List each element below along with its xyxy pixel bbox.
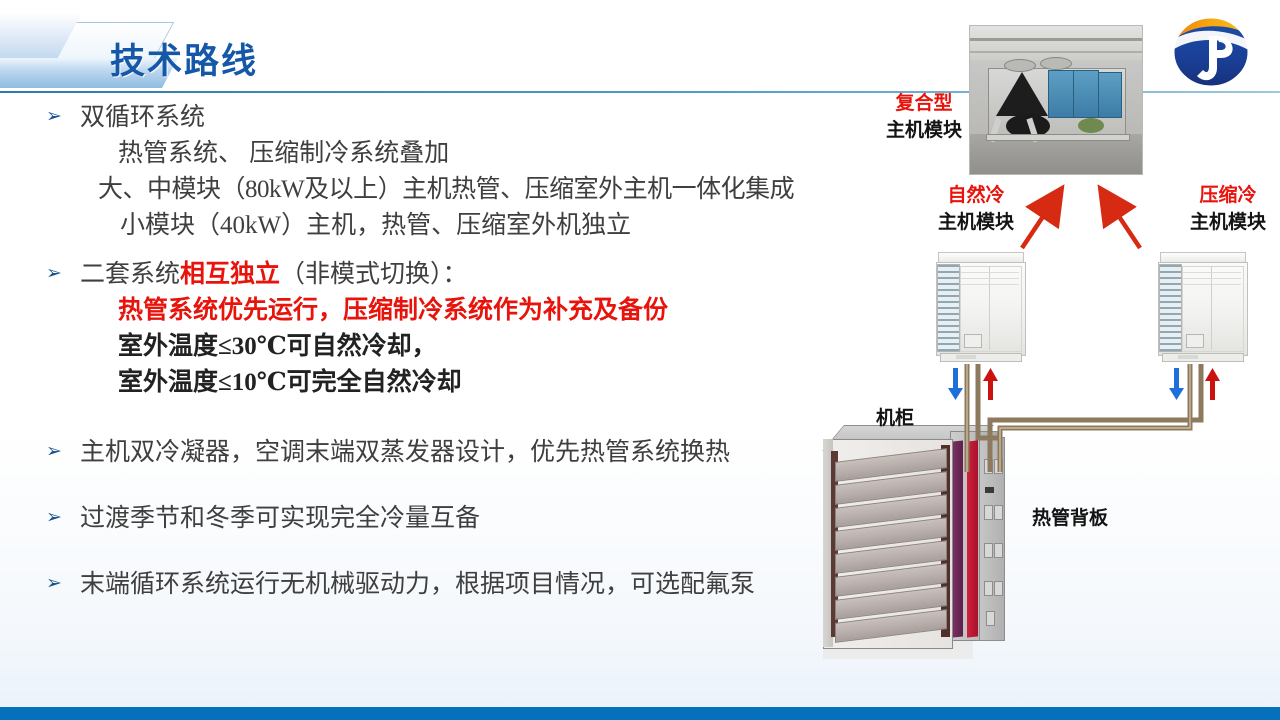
heatpipe-backplate-strip-red <box>967 440 978 637</box>
label-heatpipe-backplate: 热管背板 <box>1032 503 1108 530</box>
label-composite-module-name: 主机模块 <box>872 115 976 142</box>
label-cabinet-text: 机柜 <box>876 403 914 430</box>
page-title: 技术路线 <box>110 33 258 84</box>
bullet-2-heading-part2: （非模式切换）： <box>280 261 468 288</box>
bullet-1-line-4: 小模块（40kW）主机，热管、压缩室外机独立 <box>80 208 856 244</box>
label-natural-cooling-name: 主机模块 <box>924 207 1028 234</box>
label-compressor-cooling-type: 压缩冷 <box>1176 180 1280 207</box>
bullet-marker-icon: ➢ <box>46 100 80 126</box>
server-cabinet <box>815 425 1015 665</box>
outdoor-unit-compressor-cooling <box>1158 252 1246 364</box>
bullet-4-line-1: 过渡季节和冬季可实现完全冷量互备 <box>80 501 856 537</box>
heatpipe-backplate-strip-purple <box>953 440 963 637</box>
label-cabinet: 机柜 <box>876 403 914 430</box>
bullet-1-line-1: 双循环系统 <box>80 100 856 136</box>
bullet-marker-icon: ➢ <box>46 567 80 593</box>
flow-arrow-right-up <box>1205 368 1220 400</box>
slide-root: 技术路线 <box>0 0 1280 720</box>
bullet-marker-icon: ➢ <box>46 435 80 461</box>
bullet-marker-icon: ➢ <box>46 257 80 283</box>
bullet-1-line-3: 大、中模块（80kW及以上）主机热管、压缩室外主机一体化集成 <box>80 172 856 208</box>
label-compressor-cooling-module: 压缩冷 主机模块 <box>1176 180 1280 234</box>
company-logo <box>1165 14 1257 90</box>
flow-arrow-right-down <box>1169 368 1184 400</box>
label-heatpipe-backplate-text: 热管背板 <box>1032 503 1108 530</box>
arrow-compressor-to-composite <box>1110 203 1140 248</box>
bullet-2-heading: 二套系统相互独立（非模式切换）： <box>80 257 856 293</box>
bullet-5-line-1: 末端循环系统运行无机械驱动力，根据项目情况，可选配氟泵 <box>80 567 856 603</box>
bullet-item-1: ➢ 双循环系统 热管系统、 压缩制冷系统叠加 大、中模块（80kW及以上）主机热… <box>46 100 856 244</box>
bullet-3-line-1: 主机双冷凝器，空调末端双蒸发器设计，优先热管系统换热 <box>80 435 856 471</box>
bottom-accent-bar <box>0 707 1280 720</box>
bullet-2-line-2: 室外温度≤30℃可自然冷却， <box>80 329 856 365</box>
flow-arrow-left-down <box>948 368 963 400</box>
label-natural-cooling-module: 自然冷 主机模块 <box>924 180 1028 234</box>
bullet-marker-icon: ➢ <box>46 501 80 527</box>
bullet-item-3: ➢ 主机双冷凝器，空调末端双蒸发器设计，优先热管系统换热 <box>46 435 856 471</box>
slide-body: ➢ 双循环系统 热管系统、 压缩制冷系统叠加 大、中模块（80kW及以上）主机热… <box>46 100 856 603</box>
outdoor-unit-natural-cooling <box>936 252 1024 364</box>
bullet-item-2: ➢ 二套系统相互独立（非模式切换）： 热管系统优先运行，压缩制冷系统作为补充及备… <box>46 257 856 401</box>
bullet-2-heading-part1: 二套系统 <box>80 261 180 288</box>
bullet-2-line-1: 热管系统优先运行，压缩制冷系统作为补充及备份 <box>80 293 856 329</box>
pipe-right-return <box>990 364 1201 472</box>
bullet-2-line-3: 室外温度≤10℃可完全自然冷却 <box>80 365 856 401</box>
bullet-item-4: ➢ 过渡季节和冬季可实现完全冷量互备 <box>46 501 856 537</box>
bullet-2-heading-emphasis: 相互独立 <box>180 261 280 288</box>
label-compressor-cooling-name: 主机模块 <box>1176 207 1280 234</box>
composite-chiller-photo <box>969 25 1143 175</box>
bullet-1-line-2: 热管系统、 压缩制冷系统叠加 <box>80 136 856 172</box>
bullet-item-5: ➢ 末端循环系统运行无机械驱动力，根据项目情况，可选配氟泵 <box>46 567 856 603</box>
label-natural-cooling-type: 自然冷 <box>924 180 1028 207</box>
pipe-right-supply <box>1000 364 1190 472</box>
label-composite-module-type: 复合型 <box>872 88 976 115</box>
label-composite-module: 复合型 主机模块 <box>872 88 976 142</box>
flow-arrow-left-up <box>983 368 998 400</box>
